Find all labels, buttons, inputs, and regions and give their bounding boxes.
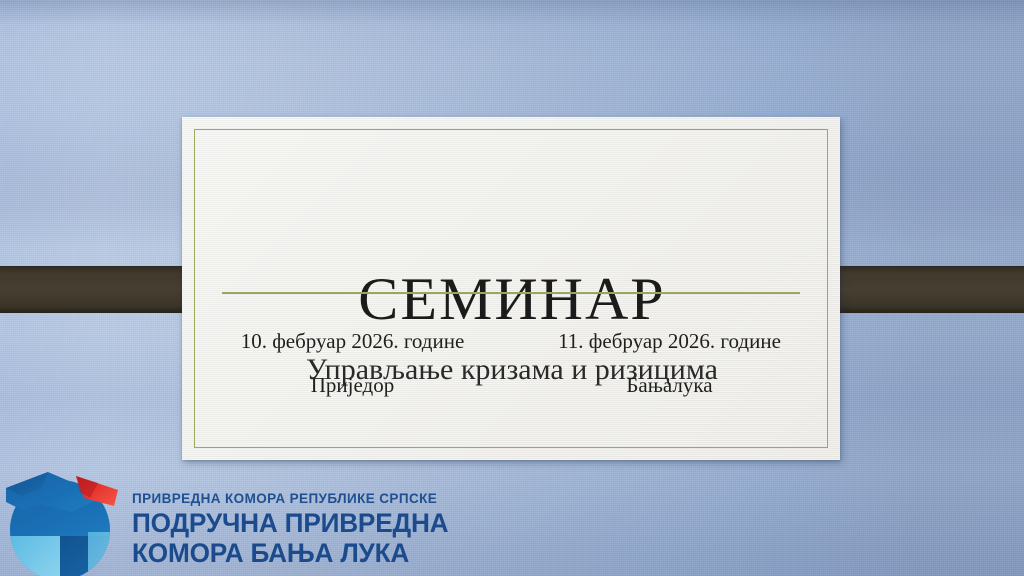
event-location: Бањалука [511, 373, 828, 397]
logo-parent-organization: ПРИВРЕДНА КОМОРА РЕПУБЛИКЕ СРПСКЕ [132, 491, 468, 507]
event-location: Приједор [194, 373, 511, 397]
presentation-slide: СЕМИНАР Управљање кризама и ризицима 10.… [0, 0, 1024, 576]
bird-circle-logo-mark [2, 458, 128, 576]
title-card: СЕМИНАР Управљање кризама и ризицима 10.… [182, 117, 840, 460]
event-date: 11. фебруар 2026. године [511, 329, 828, 353]
event-column-second: 11. фебруар 2026. године Бањалука [511, 329, 828, 397]
page-title: СЕМИНАР [0, 269, 1024, 329]
logo-name-line-1: ПОДРУЧНА ПРИВРЕДНА [132, 508, 458, 538]
organization-logo: ПРИВРЕДНА КОМОРА РЕПУБЛИКЕ СРПСКЕ ПОДРУЧ… [0, 456, 470, 576]
logo-wordmark: ПРИВРЕДНА КОМОРА РЕПУБЛИКЕ СРПСКЕ ПОДРУЧ… [132, 491, 468, 568]
logo-name-line-2: КОМОРА БАЊА ЛУКА [132, 538, 458, 568]
title-divider [222, 292, 800, 294]
event-date: 10. фебруар 2026. године [194, 329, 511, 353]
event-column-first: 10. фебруар 2026. године Приједор [194, 329, 511, 397]
event-columns: 10. фебруар 2026. године Приједор 11. фе… [194, 329, 828, 397]
